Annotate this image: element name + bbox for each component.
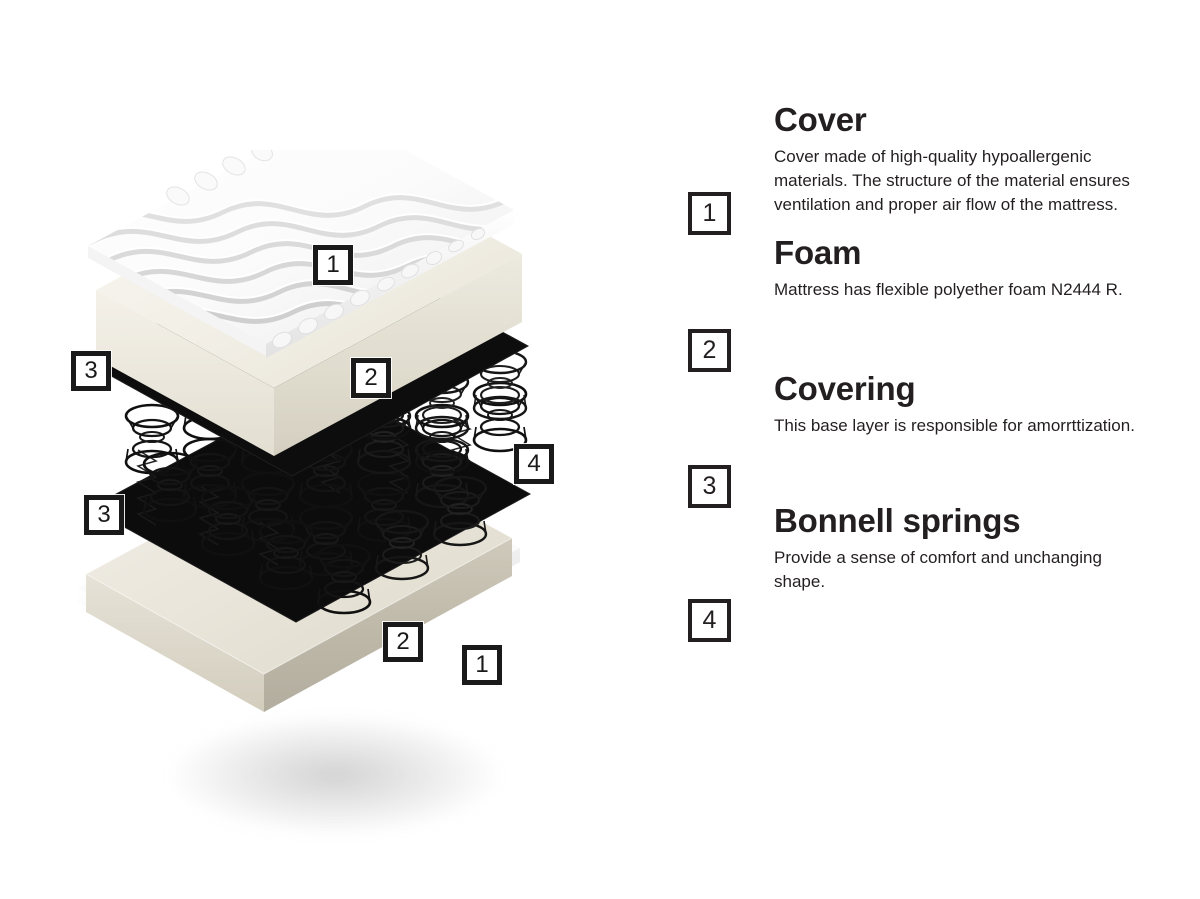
legend-body-2: Foam Mattress has flexible polyether foa…	[774, 236, 1123, 302]
legend-desc-covering: This base layer is responsible for amorr…	[774, 414, 1135, 438]
legend-badge-3: 3	[688, 465, 731, 508]
diagram-callout-2-foam-base[interactable]: 2	[383, 622, 423, 662]
legend-badge-4: 4	[688, 599, 731, 642]
legend-badge-1: 1	[688, 192, 731, 235]
diagram-callout-3-covering-top[interactable]: 3	[71, 351, 111, 391]
legend-body-1: Cover Cover made of high-quality hypoall…	[774, 103, 1154, 217]
legend-title-foam: Foam	[774, 236, 1123, 271]
diagram-callout-1-cover[interactable]: 1	[313, 245, 353, 285]
legend-badge-2: 2	[688, 329, 731, 372]
legend-title-covering: Covering	[774, 372, 1135, 407]
legend-body-4: Bonnell springs Provide a sense of comfo…	[774, 504, 1154, 594]
legend-item-foam[interactable]: 2 Foam Mattress has flexible polyether f…	[688, 283, 1158, 372]
mattress-exploded-diagram: 1 2 3 4 3 2 1	[0, 0, 640, 899]
legend-desc-cover: Cover made of high-quality hypoallergeni…	[774, 145, 1154, 217]
legend-body-3: Covering This base layer is responsible …	[774, 372, 1135, 438]
legend-item-cover[interactable]: 1 Cover Cover made of high-quality hypoa…	[688, 148, 1158, 235]
legend-title-cover: Cover	[774, 103, 1154, 138]
legend-desc-foam: Mattress has flexible polyether foam N24…	[774, 278, 1123, 302]
infographic-page: 1 2 3 4 3 2 1 1 Cover Cover made of high…	[0, 0, 1200, 899]
diagram-callout-2-foam-top[interactable]: 2	[351, 358, 391, 398]
diagram-callout-4-bonnell-springs[interactable]: 4	[514, 444, 554, 484]
legend-title-bonnell-springs: Bonnell springs	[774, 504, 1154, 539]
legend-item-covering[interactable]: 3 Covering This base layer is responsibl…	[688, 419, 1158, 508]
legend-desc-bonnell-springs: Provide a sense of comfort and unchangin…	[774, 546, 1154, 594]
legend-list: 1 Cover Cover made of high-quality hypoa…	[688, 148, 1158, 642]
diagram-stage: 1 2 3 4 3 2 1	[60, 150, 600, 770]
diagram-callout-1-cover-base[interactable]: 1	[462, 645, 502, 685]
diagram-callout-3-covering-bottom[interactable]: 3	[84, 495, 124, 535]
legend-item-bonnell-springs[interactable]: 4 Bonnell springs Provide a sense of com…	[688, 552, 1158, 642]
